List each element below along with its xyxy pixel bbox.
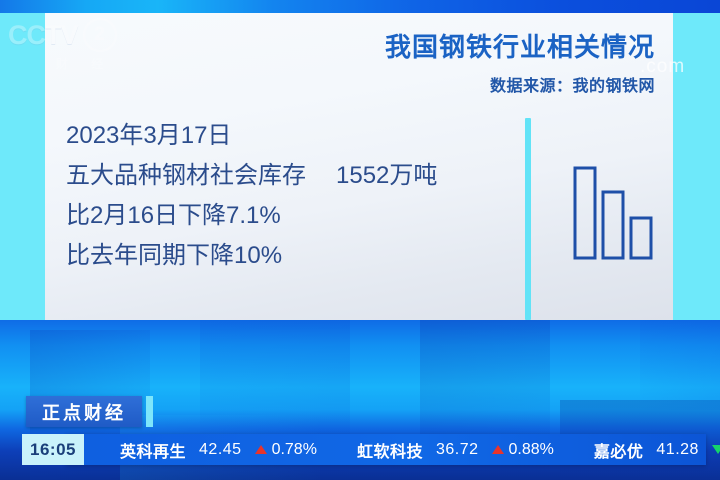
body-line-mom-change: 比2月16日下降7.1%: [66, 196, 437, 236]
inventory-label: 五大品种钢材社会库存: [66, 162, 306, 189]
ticker-stock-price: 41.28: [656, 441, 699, 459]
arrow-up-icon: [492, 445, 504, 454]
program-badge-accent: [146, 396, 153, 427]
ticker-stock-price: 36.72: [436, 441, 479, 459]
stock-ticker-bar: 英科再生42.450.78%虹软科技36.720.88%嘉必优41.282.89: [66, 434, 706, 465]
ticker-stock-price: 42.45: [199, 441, 242, 459]
top-gradient-strip: [0, 0, 720, 13]
program-badge: 正点财经: [26, 396, 153, 427]
body-line-inventory: 五大品种钢材社会库存1552万吨: [66, 156, 437, 196]
ticker-clock: 16:05: [22, 434, 84, 465]
body-line-date: 2023年3月17日: [66, 116, 437, 156]
program-badge-label: 正点财经: [26, 396, 142, 427]
ticker-stock-change: 0.78%: [255, 441, 317, 459]
headline-block: 我国钢铁行业相关情况 数据来源：我的钢铁网: [300, 32, 655, 96]
cctv-channel-name: 财 经: [8, 55, 143, 72]
ticker-stock-name: 英科再生: [120, 438, 186, 462]
bar-chart-icon: [573, 160, 653, 260]
inventory-value: 1552万吨: [336, 162, 437, 189]
ticker-item: 英科再生42.450.78%: [120, 438, 317, 462]
stock-ticker-items: 英科再生42.450.78%虹软科技36.720.88%嘉必优41.282.89: [120, 434, 720, 465]
broadcast-screen: CCTV 2 财 经 我国钢铁行业相关情况 数据来源：我的钢铁网 .com 20…: [0, 0, 720, 480]
ticker-stock-change: 0.88%: [492, 441, 554, 459]
page-title: 我国钢铁行业相关情况: [300, 32, 655, 63]
panel-vertical-divider: [525, 118, 531, 320]
ticker-change-value: 0.78%: [272, 441, 317, 459]
decor-shape-6: [640, 320, 720, 410]
cctv-logo-text: CCTV: [8, 20, 78, 51]
cctv-channel-logo: CCTV 2 财 经: [8, 18, 143, 80]
arrow-up-icon: [255, 445, 267, 454]
ticker-stock-name: 虹软科技: [357, 438, 423, 462]
body-text-block: 2023年3月17日 五大品种钢材社会库存1552万吨 比2月16日下降7.1%…: [66, 116, 437, 276]
dotcom-watermark: .com: [640, 56, 685, 78]
arrow-down-icon: [712, 445, 720, 454]
ticker-stock-change: 2.89: [712, 441, 720, 459]
ticker-stock-name: 嘉必优: [594, 438, 644, 462]
ticker-item: 嘉必优41.282.89: [594, 438, 720, 462]
cctv-channel-number: 2: [83, 18, 117, 52]
ticker-item: 虹软科技36.720.88%: [357, 438, 554, 462]
data-source-label: 数据来源：我的钢铁网: [300, 72, 655, 96]
body-line-yoy-change: 比去年同期下降10%: [66, 236, 437, 276]
ticker-change-value: 0.88%: [509, 441, 554, 459]
